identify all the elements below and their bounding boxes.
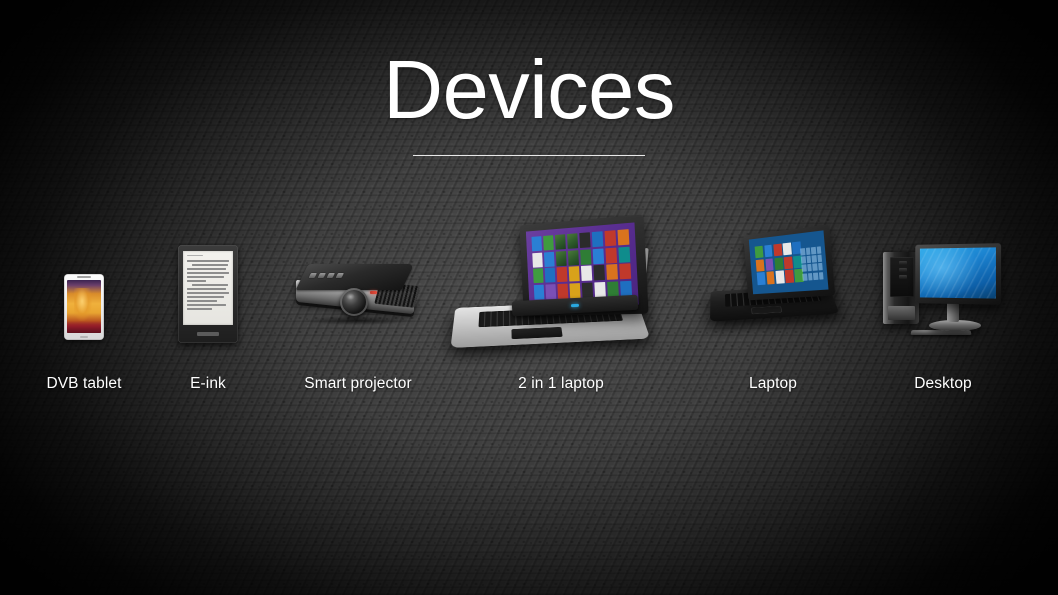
- ereader-text-line: [187, 308, 212, 310]
- start-tile-small: [816, 246, 821, 254]
- start-tile: [568, 267, 580, 282]
- start-tile-small: [800, 248, 805, 256]
- desktop-tower: [883, 252, 919, 324]
- start-tile-small: [811, 247, 816, 255]
- start-tile-small: [802, 273, 807, 281]
- smart-projector-icon: [276, 212, 440, 372]
- two-in-one-laptop-icon: [444, 212, 678, 372]
- start-tile: [617, 229, 629, 245]
- start-tile-small: [802, 265, 807, 273]
- device-label-smart-projector: Smart projector: [276, 375, 440, 393]
- start-tile: [592, 248, 604, 264]
- start-tile: [556, 251, 567, 266]
- start-tile: [581, 266, 593, 282]
- device-item-desktop[interactable]: Desktop: [860, 212, 1026, 372]
- laptop-trackpad: [751, 306, 782, 315]
- start-tile: [594, 282, 606, 298]
- start-tile-small: [818, 263, 823, 271]
- ereader-text-line: [187, 288, 226, 290]
- desktop-monitor: [915, 243, 1001, 305]
- start-tile: [756, 259, 765, 272]
- ereader-text-line: [187, 255, 203, 256]
- start-tile: [605, 247, 617, 263]
- start-tile: [604, 230, 616, 246]
- tablet-body: [64, 274, 104, 340]
- device-label-dvb-tablet: DVB tablet: [18, 375, 150, 393]
- start-tile: [765, 258, 774, 271]
- tower-drive-bay: [899, 275, 907, 279]
- start-tile: [618, 247, 630, 263]
- start-tile-small: [813, 272, 818, 280]
- e-ink-icon: [148, 212, 268, 372]
- tower-front-panel: [890, 257, 914, 297]
- start-tile: [619, 264, 631, 280]
- projector-button: [327, 273, 335, 278]
- start-tile: [774, 257, 783, 270]
- ereader-screen: [183, 251, 233, 325]
- device-item-laptop[interactable]: Laptop: [700, 212, 846, 372]
- start-tile: [557, 284, 568, 299]
- ereader-text-line: [192, 284, 228, 286]
- start-tile: [773, 244, 782, 257]
- start-tile: [569, 283, 581, 298]
- laptop-icon: [700, 212, 846, 372]
- start-tile: [757, 272, 766, 285]
- start-tile: [556, 267, 567, 282]
- device-item-dvb-tablet[interactable]: DVB tablet: [18, 212, 150, 372]
- title-underline-rule: [413, 155, 645, 156]
- projector-power-led: [370, 291, 377, 294]
- start-tile-small: [812, 255, 817, 263]
- start-tile: [782, 242, 791, 255]
- device-label-desktop: Desktop: [860, 375, 1026, 393]
- desktop-body: [881, 244, 1005, 350]
- laptop-lid: [743, 224, 835, 300]
- start-tile: [755, 246, 764, 259]
- start-tile: [533, 269, 544, 284]
- start-tile-small: [806, 247, 811, 255]
- start-tile: [567, 234, 579, 250]
- desktop-icon: [860, 212, 1026, 372]
- start-tile: [785, 270, 794, 283]
- tower-lower-panel: [888, 306, 915, 320]
- start-tile: [544, 268, 555, 283]
- start-tile: [764, 245, 773, 258]
- tower-drive-bay: [899, 261, 907, 265]
- two-in-one-body: [456, 220, 666, 368]
- laptop-body: [711, 230, 835, 350]
- presentation-slide: Devices DVB tablet: [0, 0, 1058, 595]
- start-tile-small: [806, 256, 811, 264]
- tablet-speaker: [77, 276, 91, 278]
- ereader-text-line: [192, 264, 228, 266]
- start-tile: [592, 232, 604, 248]
- ereader-text-line: [187, 272, 229, 274]
- start-tile: [532, 252, 543, 267]
- tablet-screen: [67, 280, 101, 333]
- start-tile: [579, 233, 591, 249]
- ereader-text-line: [187, 296, 224, 298]
- dock-status-led: [571, 304, 579, 307]
- ereader-text-line: [187, 292, 229, 294]
- page-title: Devices: [0, 46, 1058, 133]
- desktop-keyboard: [910, 330, 971, 335]
- projector-control-buttons: [308, 271, 346, 279]
- start-tile-small: [819, 272, 824, 280]
- ereader-text-line: [187, 300, 217, 302]
- start-tile-small: [801, 256, 806, 264]
- title-block: Devices: [0, 46, 1058, 156]
- start-tile-small: [812, 264, 817, 272]
- device-item-smart-projector[interactable]: Smart projector: [276, 212, 440, 372]
- start-tile: [582, 283, 594, 298]
- ereader-body: [178, 245, 238, 343]
- dvb-tablet-icon: [18, 212, 150, 372]
- ereader-text-line: [187, 260, 229, 262]
- start-tile: [531, 236, 542, 251]
- ereader-text-line: [187, 304, 226, 306]
- start-tile: [544, 252, 555, 267]
- ereader-text-line: [187, 280, 206, 282]
- start-tile: [593, 265, 605, 281]
- laptop-screen: [749, 230, 829, 294]
- projector-button: [309, 273, 317, 278]
- two-in-one-trackpad: [511, 327, 563, 339]
- start-tile: [555, 235, 566, 251]
- monitor-screen: [920, 247, 996, 298]
- laptop-start-tiles: [755, 241, 804, 285]
- start-tile: [545, 284, 556, 299]
- laptop-start-tile-grid: [800, 246, 823, 280]
- start-tile: [775, 271, 784, 284]
- start-tile-small: [817, 255, 822, 263]
- start-tile: [784, 256, 793, 269]
- device-label-laptop: Laptop: [700, 375, 846, 393]
- start-screen-tiles: [531, 229, 632, 299]
- projector-shadow: [304, 316, 410, 325]
- projector-lens: [340, 288, 368, 316]
- tower-drive-bay: [899, 268, 907, 272]
- start-tile-small: [808, 273, 813, 281]
- projector-button: [336, 273, 344, 278]
- tablet-home-button: [80, 336, 88, 339]
- start-tile-small: [807, 264, 812, 272]
- device-row: DVB tablet: [0, 212, 1058, 412]
- start-tile: [568, 250, 580, 266]
- start-tile: [534, 285, 545, 300]
- ereader-text-line: [187, 276, 224, 278]
- ereader-brand-mark: [197, 332, 219, 336]
- projector-body: [296, 264, 420, 326]
- device-item-2-in-1-laptop[interactable]: 2 in 1 laptop: [444, 212, 678, 372]
- device-label-e-ink: E-ink: [148, 375, 268, 393]
- projector-button: [318, 273, 326, 278]
- device-label-2-in-1-laptop: 2 in 1 laptop: [444, 375, 678, 393]
- start-tile: [543, 235, 554, 250]
- ereader-text-line: [187, 268, 226, 270]
- start-tile: [580, 249, 592, 265]
- start-tile: [766, 272, 775, 285]
- device-item-e-ink[interactable]: E-ink: [148, 212, 268, 372]
- start-tile: [606, 264, 618, 280]
